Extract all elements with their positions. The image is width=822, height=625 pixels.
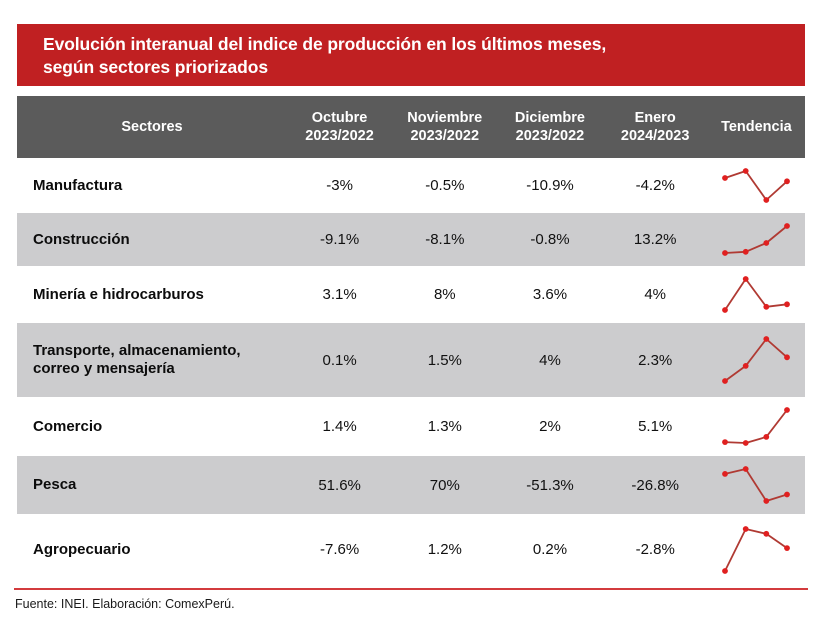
trend-cell: [708, 400, 805, 453]
value-cell: -0.5%: [392, 177, 497, 194]
value-cell: 3.6%: [497, 286, 602, 303]
table-row: Construcción-9.1%-8.1%-0.8%13.2%: [17, 213, 805, 266]
trend-sparkline: [713, 459, 799, 511]
trend-cell: [708, 459, 805, 511]
value-cell: 4%: [497, 352, 602, 369]
table-row: Minería e hidrocarburos3.1%8%3.6%4%: [17, 266, 805, 323]
value-cell: 13.2%: [603, 231, 708, 248]
sector-name: Transporte, almacenamiento, correo y men…: [17, 342, 287, 378]
value-cell: 1.2%: [392, 541, 497, 558]
trend-sparkline: [713, 329, 799, 391]
value-cell: -51.3%: [497, 477, 602, 494]
value-cell: 8%: [392, 286, 497, 303]
column-header-enero: Enero 2024/2023: [603, 109, 708, 145]
page-title: Evolución interanual del indice de produ…: [43, 33, 805, 79]
sector-name: Pesca: [17, 476, 287, 494]
column-header-diciembre: Diciembre 2023/2022: [497, 109, 602, 145]
value-cell: -0.8%: [497, 231, 602, 248]
trend-cell: [708, 329, 805, 391]
value-cell: 0.1%: [287, 352, 392, 369]
trend-cell: [708, 216, 805, 263]
value-cell: -10.9%: [497, 177, 602, 194]
value-cell: -7.6%: [287, 541, 392, 558]
value-cell: -3%: [287, 177, 392, 194]
value-cell: -2.8%: [603, 541, 708, 558]
value-cell: 1.5%: [392, 352, 497, 369]
value-cell: -26.8%: [603, 477, 708, 494]
column-header-octubre: Octubre 2023/2022: [287, 109, 392, 145]
sector-name: Manufactura: [17, 177, 287, 195]
trend-sparkline: [713, 216, 799, 263]
trend-cell: [708, 161, 805, 210]
value-cell: 51.6%: [287, 477, 392, 494]
value-cell: 4%: [603, 286, 708, 303]
column-header-noviembre: Noviembre 2023/2022: [392, 109, 497, 145]
value-cell: 2.3%: [603, 352, 708, 369]
trend-sparkline: [713, 519, 799, 581]
table-header-row: Sectores Octubre 2023/2022 Noviembre 202…: [17, 96, 805, 158]
value-cell: 0.2%: [497, 541, 602, 558]
table-row: Pesca51.6%70%-51.3%-26.8%: [17, 456, 805, 514]
source-note: Fuente: INEI. Elaboración: ComexPerú.: [15, 597, 235, 611]
value-cell: -4.2%: [603, 177, 708, 194]
value-cell: 3.1%: [287, 286, 392, 303]
value-cell: 1.4%: [287, 418, 392, 435]
table-body: Manufactura-3%-0.5%-10.9%-4.2%Construcci…: [17, 158, 805, 585]
trend-cell: [708, 519, 805, 581]
infographic-table: Evolución interanual del indice de produ…: [0, 0, 822, 625]
table-row: Comercio1.4%1.3%2%5.1%: [17, 397, 805, 456]
value-cell: 5.1%: [603, 418, 708, 435]
value-cell: 1.3%: [392, 418, 497, 435]
value-cell: -8.1%: [392, 231, 497, 248]
value-cell: -9.1%: [287, 231, 392, 248]
value-cell: 70%: [392, 477, 497, 494]
footer-divider: [14, 588, 808, 590]
table-row: Transporte, almacenamiento, correo y men…: [17, 323, 805, 397]
value-cell: 2%: [497, 418, 602, 435]
sector-name: Construcción: [17, 231, 287, 249]
trend-cell: [708, 269, 805, 320]
sector-name: Agropecuario: [17, 541, 287, 559]
table-row: Agropecuario-7.6%1.2%0.2%-2.8%: [17, 514, 805, 585]
trend-sparkline: [713, 161, 799, 210]
sector-name: Comercio: [17, 418, 287, 436]
table-row: Manufactura-3%-0.5%-10.9%-4.2%: [17, 158, 805, 213]
column-header-tendencia: Tendencia: [708, 118, 805, 136]
trend-sparkline: [713, 400, 799, 453]
trend-sparkline: [713, 269, 799, 320]
column-header-sectores: Sectores: [17, 118, 287, 136]
title-bar: Evolución interanual del indice de produ…: [17, 24, 805, 86]
sector-name: Minería e hidrocarburos: [17, 286, 287, 304]
